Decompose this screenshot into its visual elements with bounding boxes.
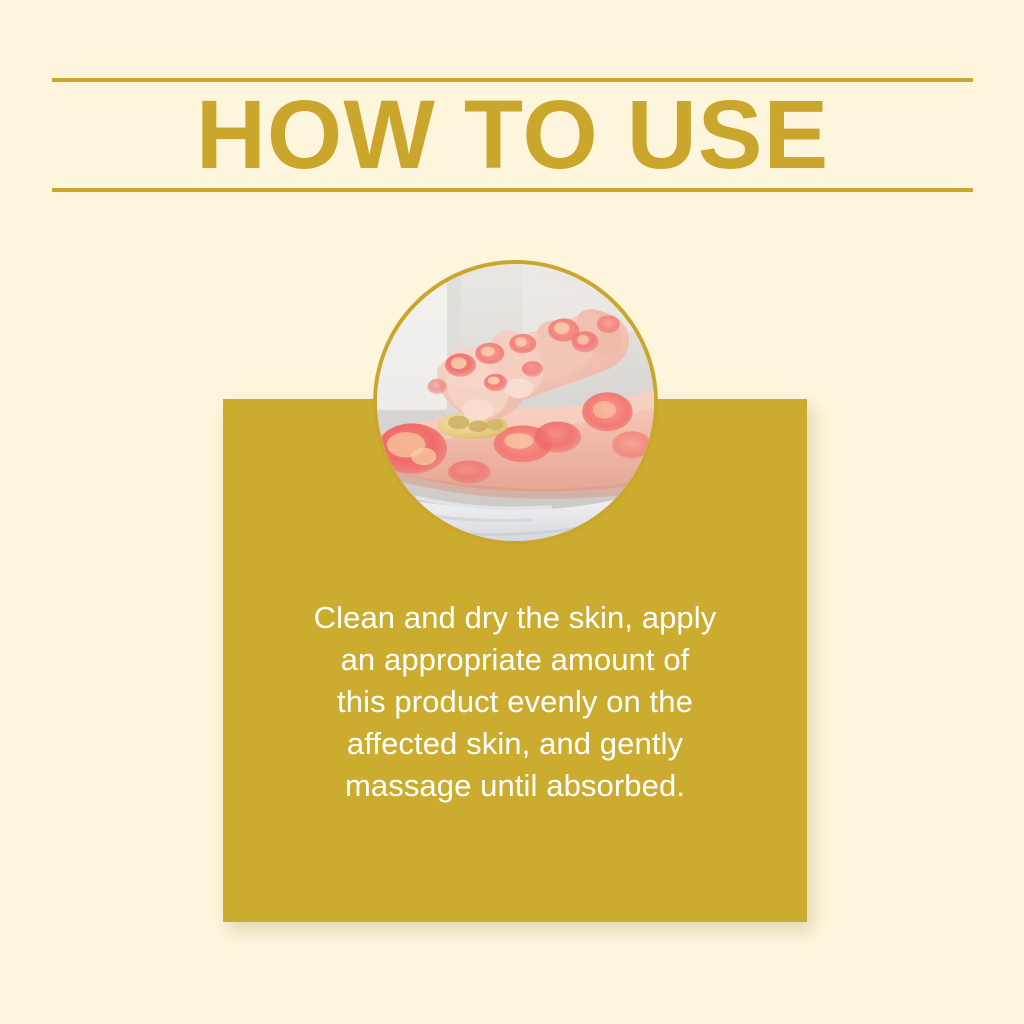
skin-treatment-photo: Hands applying ointment to inflamed psor… [373,260,658,545]
page-title: HOW TO USE [52,82,973,188]
instruction-line: massage until absorbed. [283,765,747,807]
bottom-divider-rule [52,188,973,192]
photo-alt-text: Hands applying ointment to inflamed psor… [377,264,378,265]
instruction-line: this product evenly on the [283,681,747,723]
header: HOW TO USE [52,78,973,192]
instruction-line: affected skin, and gently [283,723,747,765]
instruction-line: Clean and dry the skin, apply [283,597,747,639]
instruction-text: Clean and dry the skin, apply an appropr… [283,597,747,807]
poster-canvas: HOW TO USE Clean and dry the skin, apply… [0,0,1024,1024]
instruction-line: an appropriate amount of [283,639,747,681]
